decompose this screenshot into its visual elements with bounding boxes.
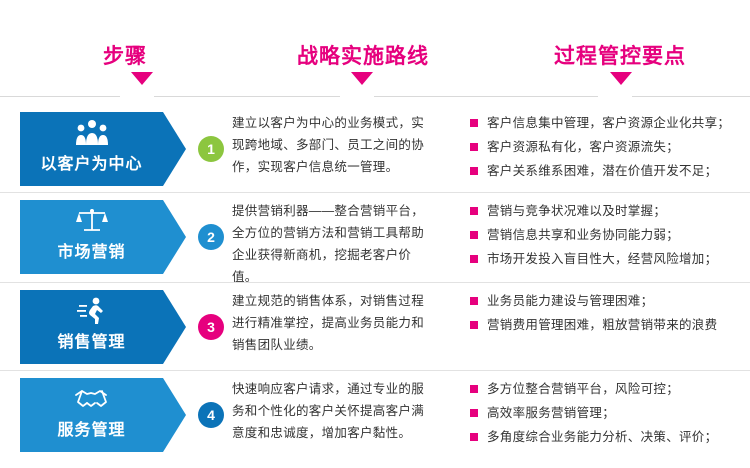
square-bullet-icon [470, 207, 478, 215]
step-label: 以客户为中心 [20, 150, 163, 174]
control-points-list: 业务员能力建设与管理困难； 营销费用管理困难，粗放营销带来的浪费 [470, 290, 745, 338]
list-item: 多角度综合业务能力分析、决策、评价； [470, 426, 745, 448]
step-number-badge: 1 [198, 136, 224, 162]
list-item-label: 客户关系维系困难，潜在价值开发不足； [487, 164, 717, 178]
control-points-list: 多方位整合营销平台，风险可控； 高效率服务营销管理； 多角度综合业务能力分析、决… [470, 378, 745, 450]
list-item: 客户资源私有化，客户资源流失； [470, 136, 745, 158]
step-number-badge: 4 [198, 402, 224, 428]
step-description: 建立规范的销售体系，对销售过程进行精准掌控，提高业务员能力和销售团队业绩。 [232, 290, 432, 356]
row-divider [0, 192, 750, 193]
step-label: 销售管理 [20, 328, 163, 352]
step-arrow-marketing[interactable]: 市场营销 [20, 200, 186, 274]
step-description: 快速响应客户请求，通过专业的服务和个性化的客户关怀提高客户满意度和忠诚度，增加客… [232, 378, 432, 444]
list-item: 多方位整合营销平台，风险可控； [470, 378, 745, 400]
control-points-list: 营销与竞争状况难以及时掌握； 营销信息共享和业务协同能力弱； 市场开发投入盲目性… [470, 200, 745, 272]
square-bullet-icon [470, 409, 478, 417]
control-points-list: 客户信息集中管理，客户资源企业化共享； 客户资源私有化，客户资源流失； 客户关系… [470, 112, 745, 184]
square-bullet-icon [470, 321, 478, 329]
square-bullet-icon [470, 167, 478, 175]
square-bullet-icon [470, 255, 478, 263]
square-bullet-icon [470, 297, 478, 305]
column-title-steps: 步骤 [103, 40, 147, 70]
column-title-route: 战略实施路线 [297, 40, 429, 70]
diagram-row: 以客户为中心 1 建立以客户为中心的业务模式，实现跨地域、多部门、员工之间的协作… [0, 106, 750, 194]
header-divider [0, 96, 120, 97]
handshake-icon [20, 383, 163, 413]
square-bullet-icon [470, 231, 478, 239]
people-group-icon [20, 117, 163, 147]
square-bullet-icon [470, 433, 478, 441]
step-description: 建立以客户为中心的业务模式，实现跨地域、多部门、员工之间的协作，实现客户信息统一… [232, 112, 432, 178]
running-person-icon [20, 295, 163, 325]
square-bullet-icon [470, 385, 478, 393]
step-label: 服务管理 [20, 416, 163, 440]
step-number-badge: 2 [198, 224, 224, 250]
square-bullet-icon [470, 119, 478, 127]
step-arrow-sales[interactable]: 销售管理 [20, 290, 186, 364]
diagram-row: 销售管理 3 建立规范的销售体系，对销售过程进行精准掌控，提高业务员能力和销售团… [0, 284, 750, 372]
list-item: 营销与竞争状况难以及时掌握； [470, 200, 745, 222]
list-item: 市场开发投入盲目性大，经营风险增加； [470, 248, 745, 270]
list-item: 客户关系维系困难，潜在价值开发不足； [470, 160, 745, 182]
diagram-header: 步骤 战略实施路线 过程管控要点 [0, 0, 750, 95]
row-divider [0, 282, 750, 283]
list-item-label: 多角度综合业务能力分析、决策、评价； [487, 430, 717, 444]
triangle-down-icon [131, 72, 153, 85]
diagram-row: 服务管理 4 快速响应客户请求，通过专业的服务和个性化的客户关怀提高客户满意度和… [0, 372, 750, 460]
header-divider [374, 96, 598, 97]
triangle-down-icon [351, 72, 373, 85]
list-item-label: 业务员能力建设与管理困难； [487, 294, 653, 308]
scales-balance-icon [20, 205, 163, 235]
list-item-label: 多方位整合营销平台，风险可控； [487, 382, 679, 396]
list-item-label: 高效率服务营销管理； [487, 406, 615, 420]
list-item-label: 营销信息共享和业务协同能力弱； [487, 228, 679, 242]
list-item: 业务员能力建设与管理困难； [470, 290, 745, 312]
list-item: 营销费用管理困难，粗放营销带来的浪费 [470, 314, 745, 336]
step-label: 市场营销 [20, 238, 163, 262]
row-divider [0, 370, 750, 371]
list-item: 客户信息集中管理，客户资源企业化共享； [470, 112, 745, 134]
square-bullet-icon [470, 143, 478, 151]
header-divider [154, 96, 340, 97]
list-item: 高效率服务营销管理； [470, 402, 745, 424]
list-item-label: 市场开发投入盲目性大，经营风险增加； [487, 252, 717, 266]
list-item: 营销信息共享和业务协同能力弱； [470, 224, 745, 246]
step-arrow-service[interactable]: 服务管理 [20, 378, 186, 452]
list-item-label: 营销费用管理困难，粗放营销带来的浪费 [487, 318, 717, 332]
list-item-label: 营销与竞争状况难以及时掌握； [487, 204, 666, 218]
list-item-label: 客户资源私有化，客户资源流失； [487, 140, 679, 154]
list-item-label: 客户信息集中管理，客户资源企业化共享； [487, 116, 730, 130]
step-description: 提供营销利器——整合营销平台，全方位的营销方法和营销工具帮助企业获得新商机，挖掘… [232, 200, 432, 288]
header-divider [632, 96, 750, 97]
step-number-badge: 3 [198, 314, 224, 340]
diagram-row: 市场营销 2 提供营销利器——整合营销平台，全方位的营销方法和营销工具帮助企业获… [0, 194, 750, 282]
column-title-control: 过程管控要点 [554, 40, 686, 70]
step-arrow-customer-centric[interactable]: 以客户为中心 [20, 112, 186, 186]
triangle-down-icon [610, 72, 632, 85]
